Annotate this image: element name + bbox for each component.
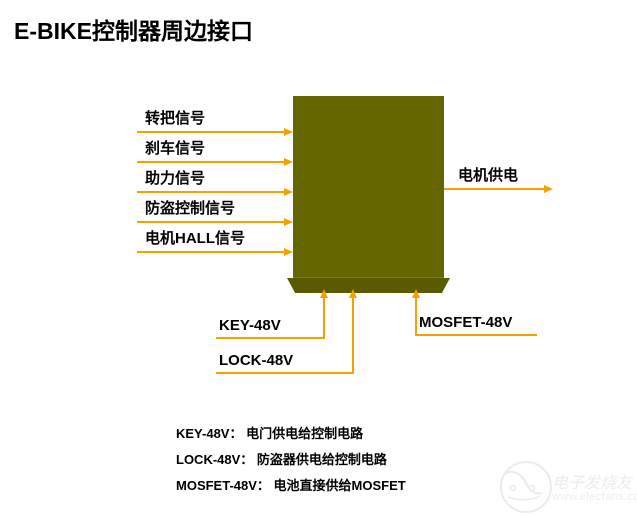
watermark-url: www.elecfans.com	[552, 491, 637, 503]
legend-item: LOCK-48V： 防盗器供电给控制电路	[176, 449, 406, 468]
diagram-canvas: E-BIKE控制器周边接口 转把信号 刹车信号 助力信号 防盗控制信号 电机HA…	[0, 0, 637, 517]
power-input-riser-key	[323, 297, 325, 339]
input-signal-label: 防盗控制信号	[145, 197, 235, 218]
input-signal-row: 防盗控制信号	[137, 193, 293, 223]
controller-block	[293, 96, 444, 278]
watermark: 电子发烧友 www.elecfans.com	[498, 455, 637, 517]
input-arrow-head	[284, 248, 293, 256]
controller-block-body	[293, 96, 444, 278]
output-arrow-head	[544, 185, 553, 193]
input-signal-row: 转把信号	[137, 103, 293, 133]
power-input-underline-mosfet	[415, 334, 537, 336]
controller-block-base	[287, 278, 450, 293]
power-input-underline-key	[216, 337, 325, 339]
power-input-label-lock: LOCK-48V	[219, 352, 293, 369]
power-input-riser-mosfet	[415, 297, 417, 335]
input-signal-label: 刹车信号	[145, 137, 205, 158]
input-signal-label: 助力信号	[145, 167, 205, 188]
power-input-label-key: KEY-48V	[219, 317, 281, 334]
page-title: E-BIKE控制器周边接口	[14, 12, 253, 46]
output-signal-row: 电机供电	[444, 160, 564, 190]
watermark-circle-icon	[500, 461, 552, 513]
input-signal-label: 电机HALL信号	[145, 227, 245, 248]
power-input-arrow-head-lock	[349, 289, 357, 298]
watermark-swoosh-icon	[504, 469, 544, 503]
power-input-arrow-head-mosfet	[412, 289, 420, 298]
input-signal-row: 电机HALL信号	[137, 223, 293, 253]
legend: KEY-48V： 电门供电给控制电路 LOCK-48V： 防盗器供电给控制电路 …	[176, 423, 406, 494]
power-input-arrow-head-key	[320, 289, 328, 298]
input-signal-row: 助力信号	[137, 163, 293, 193]
output-arrow-line	[444, 188, 544, 190]
legend-item: MOSFET-48V： 电池直接供给MOSFET	[176, 475, 406, 494]
power-input-label-mosfet: MOSFET-48V	[419, 314, 512, 331]
output-signal-label: 电机供电	[458, 164, 518, 185]
watermark-text-cn: 电子发烧友	[552, 469, 632, 493]
input-signal-row: 刹车信号	[137, 133, 293, 163]
power-input-riser-lock	[352, 297, 354, 374]
power-input-underline-lock	[216, 372, 354, 374]
input-arrow-line	[137, 251, 284, 253]
input-signal-label: 转把信号	[145, 107, 205, 128]
legend-item: KEY-48V： 电门供电给控制电路	[176, 423, 406, 442]
